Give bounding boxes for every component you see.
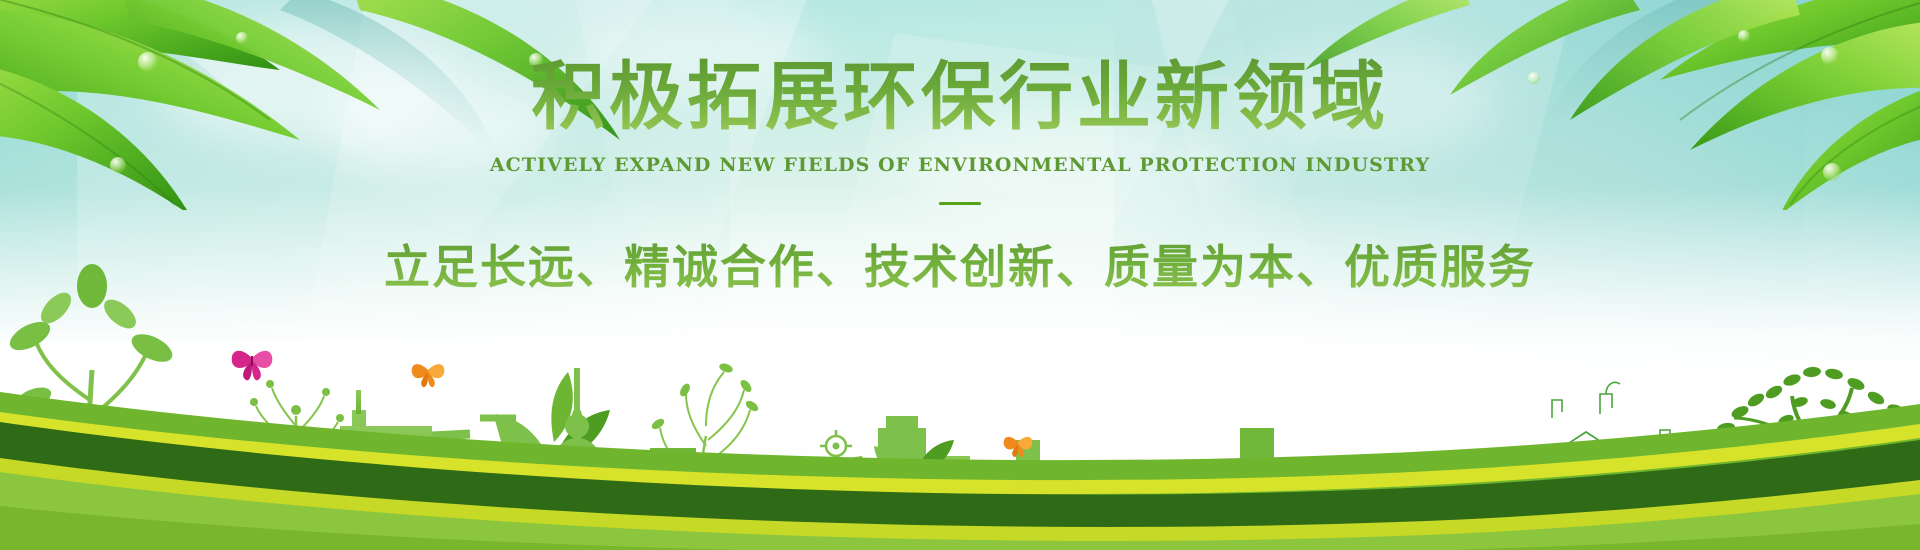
eco-banner: 积极拓展环保行业新领域 ACTIVELY EXPAND NEW FIELDS O… bbox=[0, 0, 1920, 550]
green-wave-bands bbox=[0, 300, 1920, 550]
page-subtitle: ACTIVELY EXPAND NEW FIELDS OF ENVIRONMEN… bbox=[0, 154, 1920, 176]
headline-text-block: 积极拓展环保行业新领域 ACTIVELY EXPAND NEW FIELDS O… bbox=[0, 58, 1920, 297]
company-slogan: 立足长远、精诚合作、技术创新、质量为本、优质服务 bbox=[0, 231, 1920, 297]
divider-rule bbox=[939, 202, 981, 205]
page-title: 积极拓展环保行业新领域 bbox=[0, 58, 1920, 136]
